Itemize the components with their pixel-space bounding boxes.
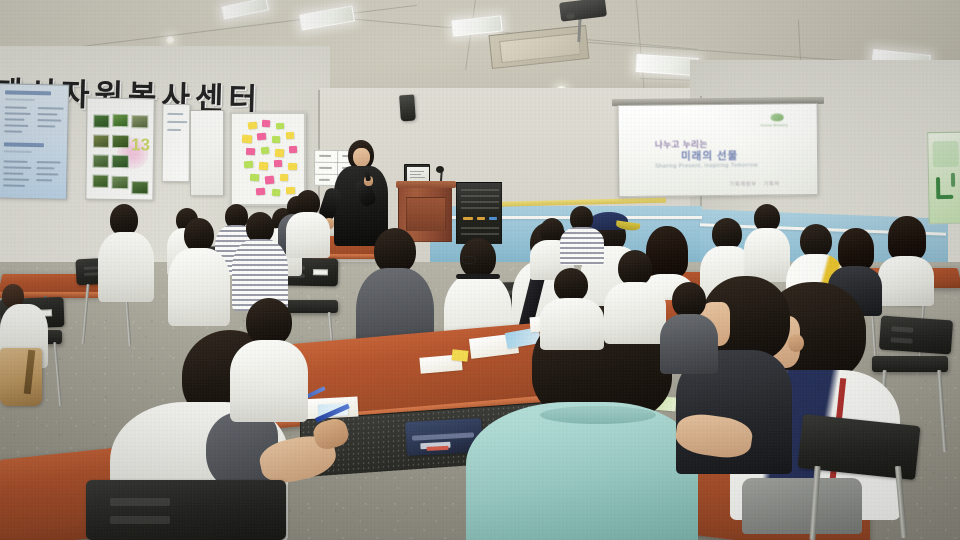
sticky-note bbox=[272, 136, 280, 143]
sticky-note bbox=[246, 148, 255, 155]
slide-logo-icon bbox=[771, 113, 784, 121]
poster-number: 13 bbox=[131, 135, 150, 155]
person bbox=[560, 206, 604, 262]
sticky-note bbox=[248, 122, 258, 130]
sticky-note bbox=[265, 176, 275, 185]
glasses-icon bbox=[462, 256, 476, 264]
sticky-note bbox=[262, 120, 270, 128]
person bbox=[230, 298, 308, 418]
poster-text-left bbox=[0, 83, 69, 199]
sticky-note bbox=[244, 161, 254, 169]
sticky-note bbox=[286, 132, 294, 140]
sticky-note bbox=[276, 123, 284, 129]
mic-head-icon bbox=[436, 166, 444, 173]
sticky-note bbox=[275, 149, 285, 158]
sticky-note bbox=[274, 160, 282, 167]
sticky-note bbox=[280, 174, 288, 181]
sticky-note bbox=[288, 163, 297, 170]
collar-stripe bbox=[456, 274, 500, 279]
poster-photo-grid: 13 bbox=[85, 98, 154, 201]
wall-speaker-icon bbox=[399, 95, 416, 122]
av-equipment-rack bbox=[456, 182, 502, 244]
collar bbox=[540, 406, 656, 424]
slide-logo-text: Korea Ministry bbox=[761, 123, 788, 127]
bag bbox=[0, 348, 42, 406]
chair-foreground-left bbox=[86, 480, 286, 540]
slide-footer: 기획재정부 · 기획처 bbox=[729, 180, 780, 188]
person bbox=[286, 190, 330, 256]
slide-subtitle: Sharing Present, Inspiring Tomorrow bbox=[655, 163, 758, 170]
person bbox=[744, 204, 790, 280]
person bbox=[604, 250, 666, 342]
sticky-note bbox=[289, 146, 297, 153]
sticky-note bbox=[256, 188, 265, 196]
sticky-note bbox=[257, 133, 267, 141]
person bbox=[98, 204, 154, 300]
sticky-note bbox=[259, 162, 269, 171]
poster-small-left bbox=[162, 104, 191, 182]
sticky-note bbox=[250, 174, 259, 182]
person bbox=[540, 268, 604, 348]
person bbox=[168, 218, 230, 324]
sticky-note bbox=[261, 147, 270, 155]
poster-blank-left bbox=[190, 110, 224, 196]
poster-green-right bbox=[927, 132, 960, 225]
person bbox=[232, 212, 288, 308]
projection-screen[interactable]: Korea Ministry 나누고 누리는 미래의 선물 Sharing Pr… bbox=[618, 103, 819, 197]
sticky-note bbox=[242, 135, 253, 144]
person bbox=[660, 282, 718, 372]
classroom-photo: 제시자원봉사센터 13 bbox=[0, 0, 960, 540]
presenter-face bbox=[353, 148, 370, 167]
slide-title-line-2: 미래의 선물 bbox=[681, 148, 738, 164]
